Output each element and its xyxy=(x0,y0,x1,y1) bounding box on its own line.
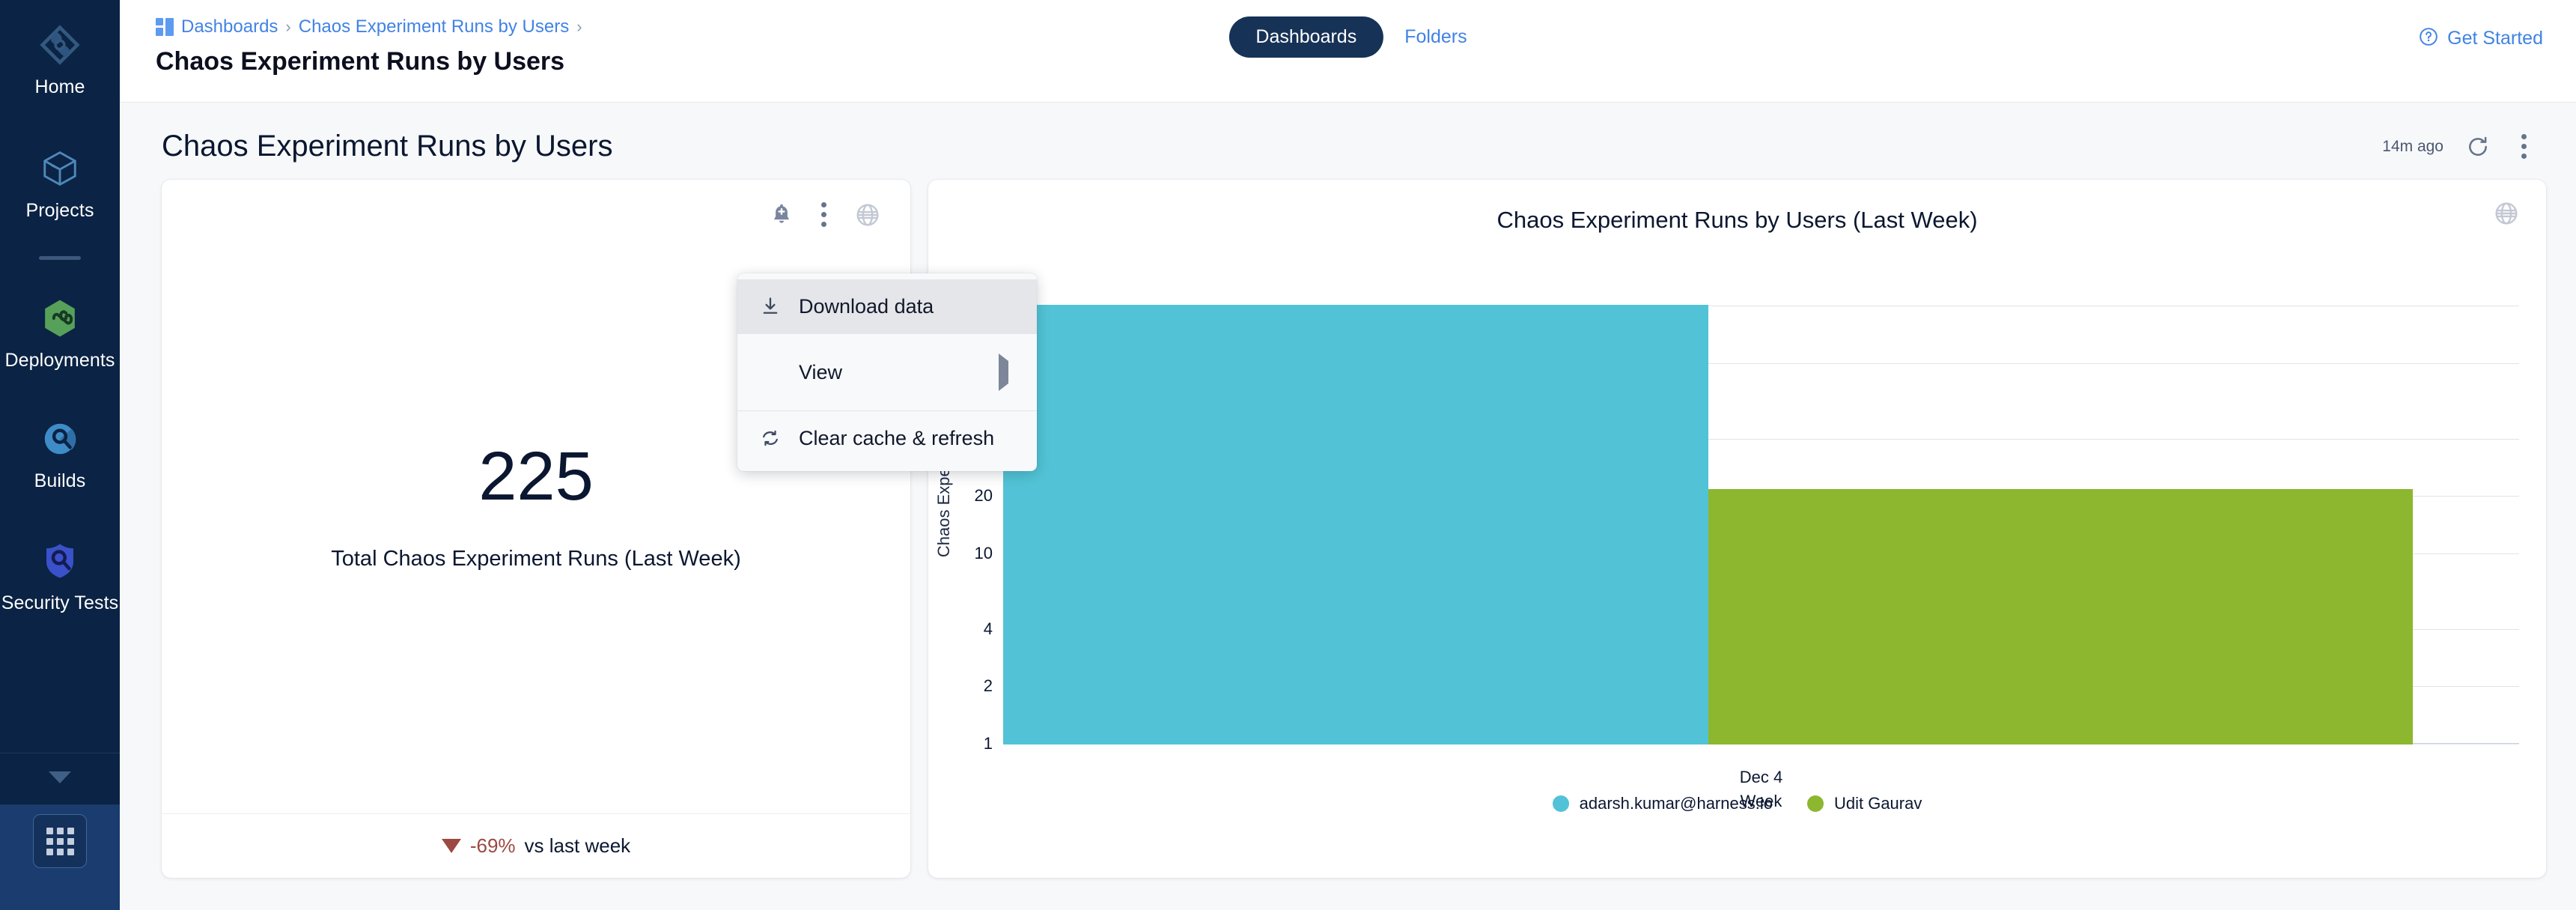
globe-icon[interactable] xyxy=(2494,201,2519,226)
breadcrumb-item-dashboards[interactable]: Dashboards xyxy=(181,16,278,37)
tile-context-menu: Download data View Clear cache & refresh xyxy=(737,273,1037,471)
chevron-down-icon xyxy=(47,769,73,789)
builds-pie-icon xyxy=(36,415,84,463)
kpi-value: 225 xyxy=(478,442,594,511)
submenu-arrow-icon xyxy=(999,361,1008,384)
menu-item-label: View xyxy=(799,361,842,384)
sidebar-item-projects[interactable]: Projects xyxy=(0,137,120,229)
sidebar-item-label: Home xyxy=(34,76,85,98)
sidebar-item-builds[interactable]: Builds xyxy=(0,407,120,500)
shield-search-icon xyxy=(36,537,84,585)
dashboard-menu-icon[interactable] xyxy=(2512,130,2536,163)
sidebar-divider xyxy=(39,256,81,260)
bell-plus-icon[interactable] xyxy=(770,203,793,227)
chart-tile: Chaos Experiment Runs by Users (Last Wee… xyxy=(928,180,2546,878)
last-refreshed-label: 14m ago xyxy=(2382,138,2443,156)
menu-item-label: Download data xyxy=(799,295,934,318)
main-content: Dashboards › Chaos Experiment Runs by Us… xyxy=(120,0,2576,910)
header-tabs: Dashboards Folders xyxy=(1228,16,1467,58)
app-root: Home Projects Deployments xyxy=(0,0,2576,910)
breadcrumb: Dashboards › Chaos Experiment Runs by Us… xyxy=(156,16,582,37)
chart-plot-area: Chaos Experi Dec 4 Week 200100402010421 … xyxy=(928,234,2546,825)
sidebar-item-label: Builds xyxy=(34,470,86,492)
chart-bar[interactable] xyxy=(1003,305,1708,744)
x-tick-label: Dec 4 xyxy=(1003,765,2519,789)
sidebar-item-label: Projects xyxy=(25,200,94,222)
get-started-button[interactable]: Get Started xyxy=(2419,27,2543,50)
sidebar-item-label: Security Tests xyxy=(1,592,119,614)
trend-down-icon xyxy=(442,839,461,853)
main-sidebar: Home Projects Deployments xyxy=(0,0,120,910)
top-header: Dashboards › Chaos Experiment Runs by Us… xyxy=(120,0,2576,103)
page-title: Chaos Experiment Runs by Users xyxy=(156,47,582,76)
y-tick-label: 1 xyxy=(984,734,993,753)
cube-icon xyxy=(36,145,84,192)
legend-color-swatch xyxy=(1807,795,1824,812)
sidebar-item-security-tests[interactable]: Security Tests xyxy=(0,530,120,622)
breadcrumb-separator: › xyxy=(285,17,290,37)
legend-color-swatch xyxy=(1553,795,1569,812)
legend-item[interactable]: Udit Gaurav xyxy=(1807,794,1922,813)
sidebar-item-deployments[interactable]: Deployments xyxy=(0,287,120,379)
grid-apps-icon xyxy=(46,828,74,855)
kpi-tile-toolbar xyxy=(770,198,880,231)
y-tick-label: 10 xyxy=(975,544,993,563)
home-diamond-icon xyxy=(36,21,84,69)
app-launcher-button[interactable] xyxy=(33,814,87,868)
get-started-label: Get Started xyxy=(2447,28,2543,49)
sidebar-item-label: Deployments xyxy=(5,350,115,371)
chart-bar[interactable] xyxy=(1708,489,2414,744)
chart-legend: adarsh.kumar@harness.ioUdit Gaurav xyxy=(928,794,2546,813)
legend-label: adarsh.kumar@harness.io xyxy=(1580,794,1773,813)
y-tick-label: 2 xyxy=(984,676,993,696)
dashboard-header: Chaos Experiment Runs by Users 14m ago xyxy=(120,103,2576,163)
breadcrumb-separator-trailing: › xyxy=(576,17,582,37)
menu-item-view[interactable]: View xyxy=(737,334,1037,410)
y-tick-label: 20 xyxy=(975,486,993,506)
sidebar-item-home[interactable]: Home xyxy=(0,13,120,106)
menu-item-clear-cache-refresh[interactable]: Clear cache & refresh xyxy=(737,411,1037,465)
menu-item-download-data[interactable]: Download data xyxy=(737,279,1037,333)
legend-label: Udit Gaurav xyxy=(1834,794,1922,813)
tab-folders[interactable]: Folders xyxy=(1404,26,1467,48)
tab-dashboards[interactable]: Dashboards xyxy=(1228,16,1383,58)
chart-title: Chaos Experiment Runs by Users (Last Wee… xyxy=(928,180,2546,234)
y-tick-label: 4 xyxy=(984,619,993,639)
legend-item[interactable]: adarsh.kumar@harness.io xyxy=(1553,794,1773,813)
dashboard-tiles: 225 Total Chaos Experiment Runs (Last We… xyxy=(120,163,2576,910)
sidebar-launcher-area xyxy=(0,805,120,910)
dashboards-grid-icon xyxy=(156,18,174,36)
kpi-delta-value: -69% xyxy=(470,834,516,858)
infinity-hexagon-icon xyxy=(36,294,84,342)
refresh-cycle-icon xyxy=(758,428,782,449)
globe-icon[interactable] xyxy=(855,202,880,228)
question-circle-icon xyxy=(2419,27,2438,50)
breadcrumb-item-current[interactable]: Chaos Experiment Runs by Users xyxy=(299,16,569,37)
chart-plot: Dec 4 Week 200100402010421 xyxy=(1003,258,2519,744)
refresh-icon[interactable] xyxy=(2466,135,2490,159)
kpi-delta-suffix: vs last week xyxy=(525,834,631,858)
y-axis-label: Chaos Experi xyxy=(934,458,954,557)
menu-item-label: Clear cache & refresh xyxy=(799,427,994,450)
kpi-caption: Total Chaos Experiment Runs (Last Week) xyxy=(331,547,740,571)
dashboard-title: Chaos Experiment Runs by Users xyxy=(162,130,612,163)
dashboard-actions: 14m ago xyxy=(2382,130,2536,163)
download-icon xyxy=(758,296,782,317)
kpi-delta-footer: -69% vs last week xyxy=(162,813,910,878)
header-left: Dashboards › Chaos Experiment Runs by Us… xyxy=(120,0,582,76)
tile-menu-icon[interactable] xyxy=(812,198,835,231)
sidebar-collapse-button[interactable] xyxy=(0,753,120,805)
sidebar-bottom xyxy=(0,753,120,910)
